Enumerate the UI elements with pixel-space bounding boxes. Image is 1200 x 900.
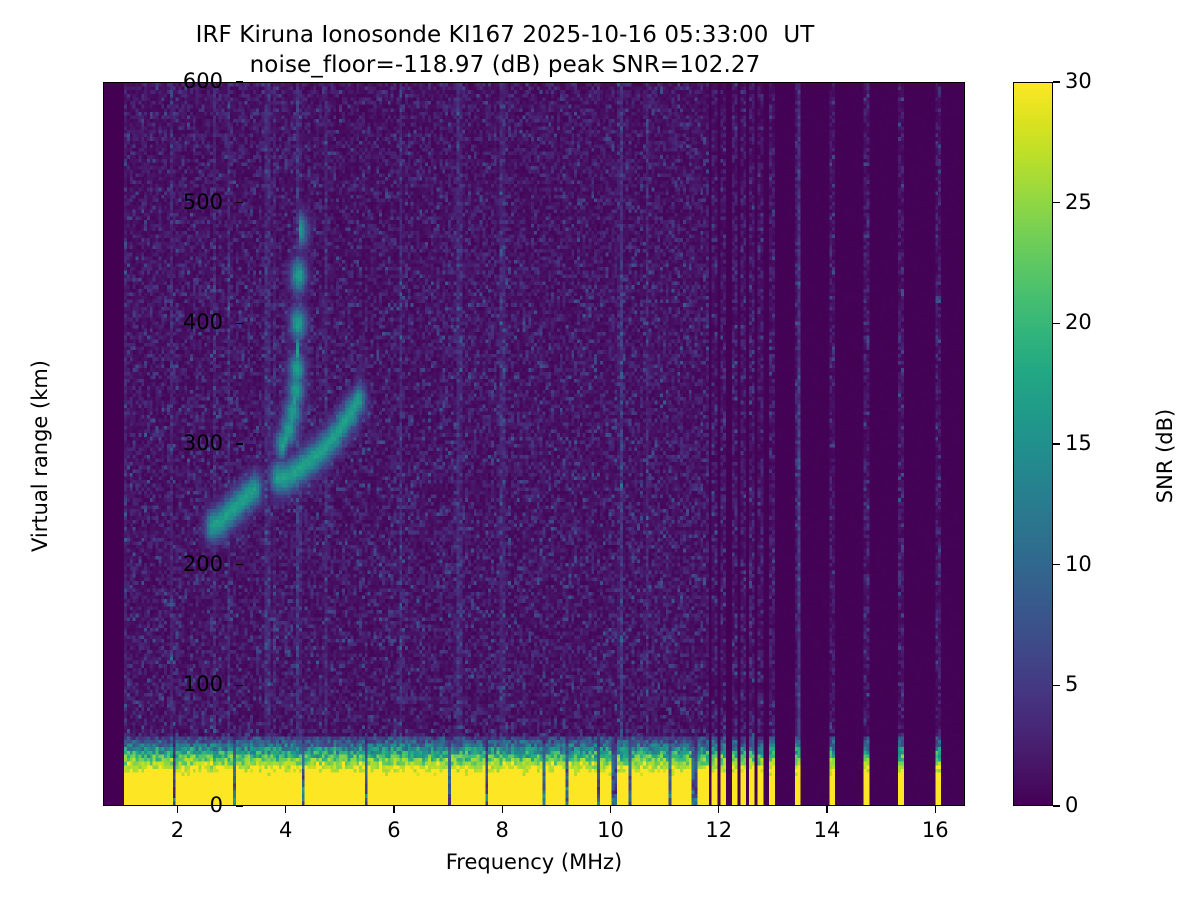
- title-line-noise-snr: noise_floor=-118.97 (dB) peak SNR=102.27: [0, 50, 1010, 80]
- y-tick-label: 0: [210, 793, 223, 817]
- x-tick-label: 8: [496, 818, 509, 842]
- ionogram-heatmap: [104, 83, 964, 805]
- colorbar-tick-label: 25: [1065, 190, 1092, 214]
- colorbar-tick-label: 0: [1065, 793, 1078, 817]
- y-axis-label: Virtual range (km): [28, 296, 52, 616]
- colorbar-tick-label: 15: [1065, 431, 1092, 455]
- y-tick-label: 400: [183, 310, 223, 334]
- x-tick-label: 10: [597, 818, 624, 842]
- colorbar-tick-label: 20: [1065, 310, 1092, 334]
- y-tick-label: 500: [183, 190, 223, 214]
- y-tick-label: 600: [183, 69, 223, 93]
- x-tick-label: 14: [814, 818, 841, 842]
- heatmap-canvas: [104, 83, 964, 805]
- y-tick-label: 200: [183, 552, 223, 576]
- colorbar-label: SNR (dB): [1153, 306, 1177, 606]
- title-line-station: IRF Kiruna Ionosonde KI167 2025-10-16 05…: [0, 20, 1010, 50]
- colorbar-gradient: [1014, 83, 1052, 805]
- x-axis-label: Frequency (MHz): [103, 850, 965, 874]
- colorbar[interactable]: [1013, 82, 1053, 806]
- figure-title: IRF Kiruna Ionosonde KI167 2025-10-16 05…: [0, 20, 1010, 80]
- x-tick-label: 16: [922, 818, 949, 842]
- colorbar-tick-label: 30: [1065, 69, 1092, 93]
- colorbar-tick-label: 5: [1065, 672, 1078, 696]
- ionogram-plot-area[interactable]: [103, 82, 965, 806]
- y-tick-label: 100: [183, 672, 223, 696]
- colorbar-tick-label: 10: [1065, 552, 1092, 576]
- x-tick-label: 6: [387, 818, 400, 842]
- x-tick-label: 12: [705, 818, 732, 842]
- y-tick-label: 300: [183, 431, 223, 455]
- x-tick-label: 2: [171, 818, 184, 842]
- x-tick-label: 4: [279, 818, 292, 842]
